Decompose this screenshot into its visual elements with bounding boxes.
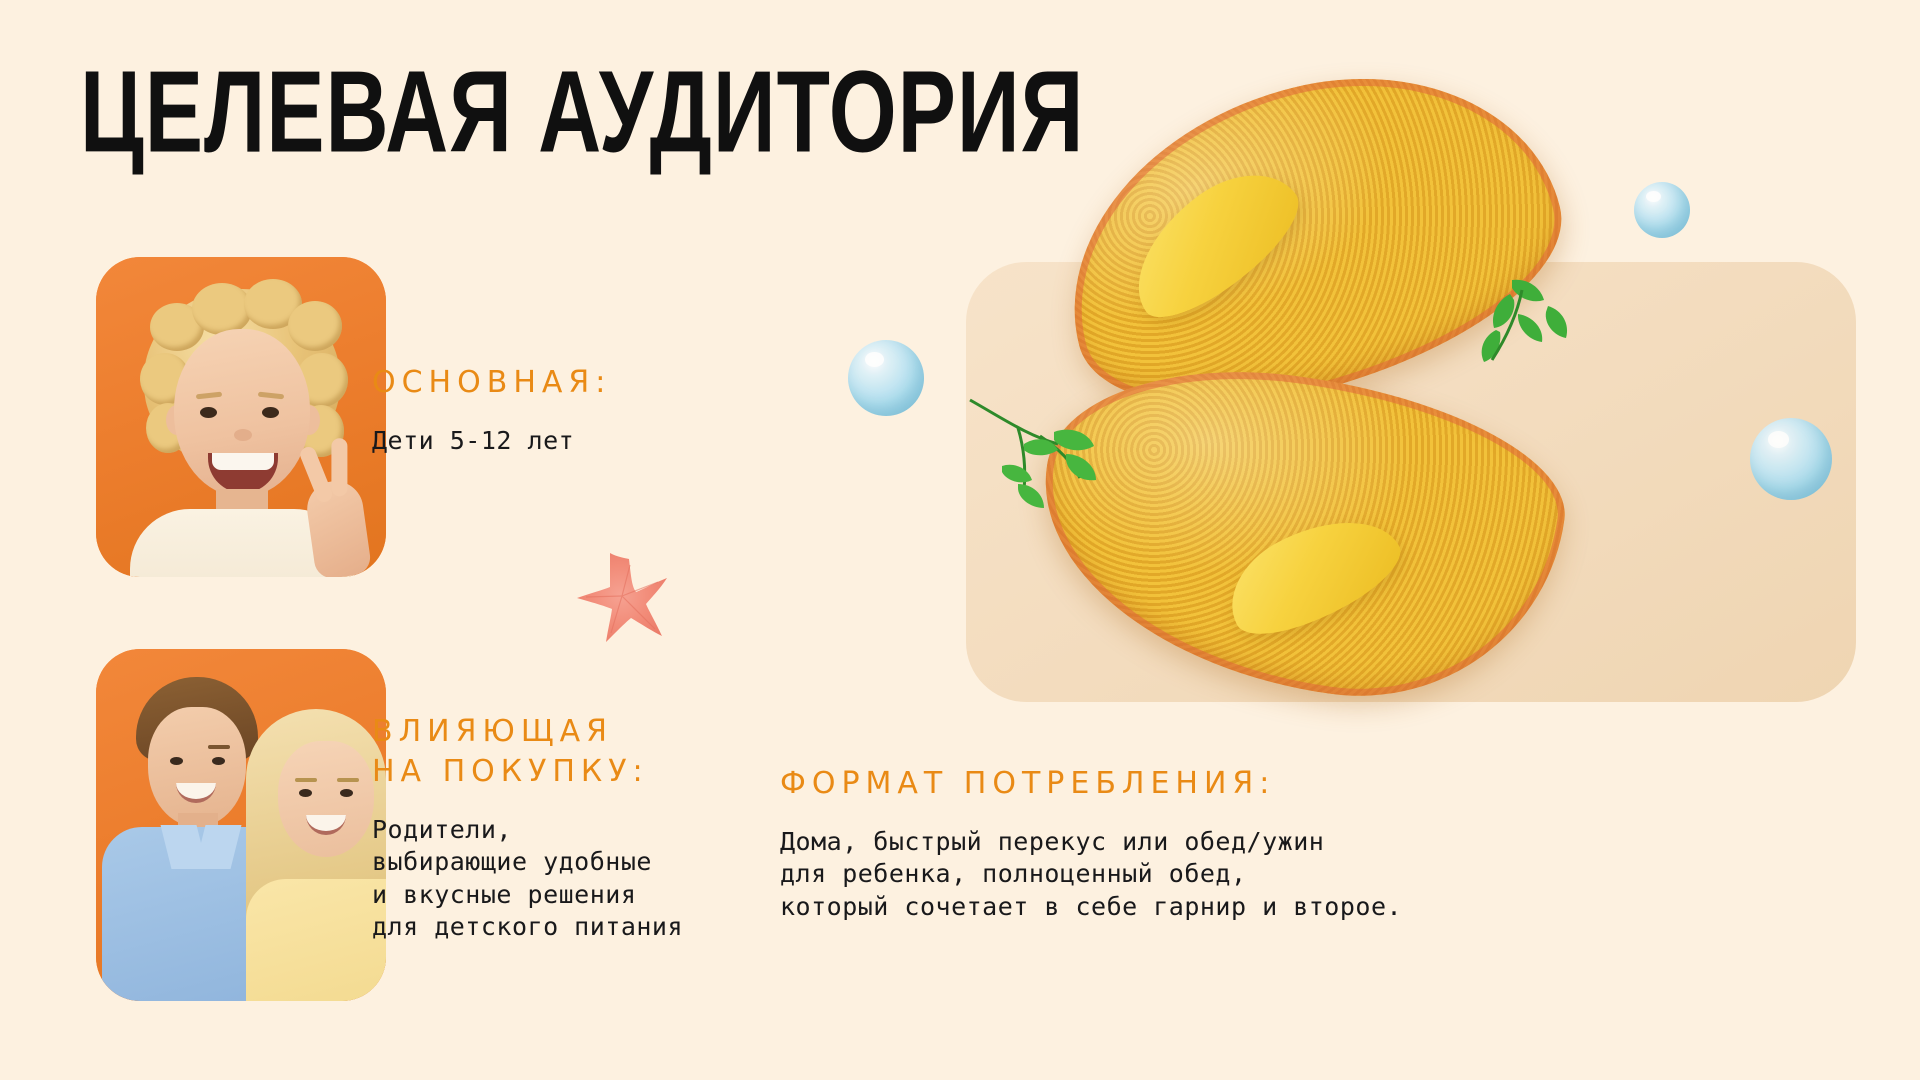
father-eye bbox=[170, 757, 183, 765]
starfish-icon bbox=[572, 549, 672, 645]
child-nose bbox=[234, 429, 252, 441]
mother-eye bbox=[340, 789, 353, 797]
child-teeth bbox=[212, 453, 274, 470]
child-eye bbox=[262, 407, 279, 418]
block-influencing-audience: ВЛИЯЮЩАЯ НА ПОКУПКУ: Родители, выбирающи… bbox=[372, 712, 683, 944]
body-influence: Родители, выбирающие удобные и вкусные р… bbox=[372, 814, 683, 944]
photo-card-primary-audience: smiling-blond-curly-haired-boy-showing-p… bbox=[96, 257, 386, 577]
bubble-icon bbox=[848, 340, 924, 416]
father-eye bbox=[212, 757, 225, 765]
block-primary-audience: ОСНОВНАЯ: Дети 5-12 лет bbox=[372, 363, 611, 457]
page-title: ЦЕЛЕВАЯ АУДИТОРИЯ bbox=[80, 55, 1084, 171]
block-consumption-format: ФОРМАТ ПОТРЕБЛЕНИЯ: Дома, быстрый переку… bbox=[780, 764, 1402, 923]
mother-eyebrow bbox=[295, 778, 317, 782]
child-hair-curl bbox=[288, 301, 342, 351]
mother-eye bbox=[299, 789, 312, 797]
parsley-sprig-icon bbox=[1452, 270, 1572, 382]
mother-eyebrow bbox=[337, 778, 359, 782]
bubble-icon bbox=[1634, 182, 1690, 238]
child-hair-curl bbox=[192, 283, 252, 335]
heading-influence: ВЛИЯЮЩАЯ НА ПОКУПКУ: bbox=[372, 712, 683, 792]
heading-primary: ОСНОВНАЯ: bbox=[372, 363, 611, 403]
father-eyebrow bbox=[166, 745, 188, 749]
photo-card-influencing-audience: smiling-parents-couple-man-in-blue-shirt… bbox=[96, 649, 386, 1001]
child-finger bbox=[331, 438, 347, 496]
mother-yellow-top bbox=[246, 879, 386, 1001]
body-format: Дома, быстрый перекус или обед/ужин для … bbox=[780, 826, 1402, 924]
parsley-sprig-icon bbox=[962, 392, 1112, 510]
bubble-icon bbox=[1750, 418, 1832, 500]
father-face bbox=[148, 707, 246, 827]
father-eyebrow bbox=[208, 745, 230, 749]
child-eye bbox=[200, 407, 217, 418]
body-primary: Дети 5-12 лет bbox=[372, 425, 611, 458]
slide-root: ЦЕЛЕВАЯ АУДИТОРИЯ smiling-blond-curly-ha… bbox=[0, 0, 1920, 1080]
mother-face bbox=[278, 741, 374, 857]
heading-format: ФОРМАТ ПОТРЕБЛЕНИЯ: bbox=[780, 764, 1402, 804]
